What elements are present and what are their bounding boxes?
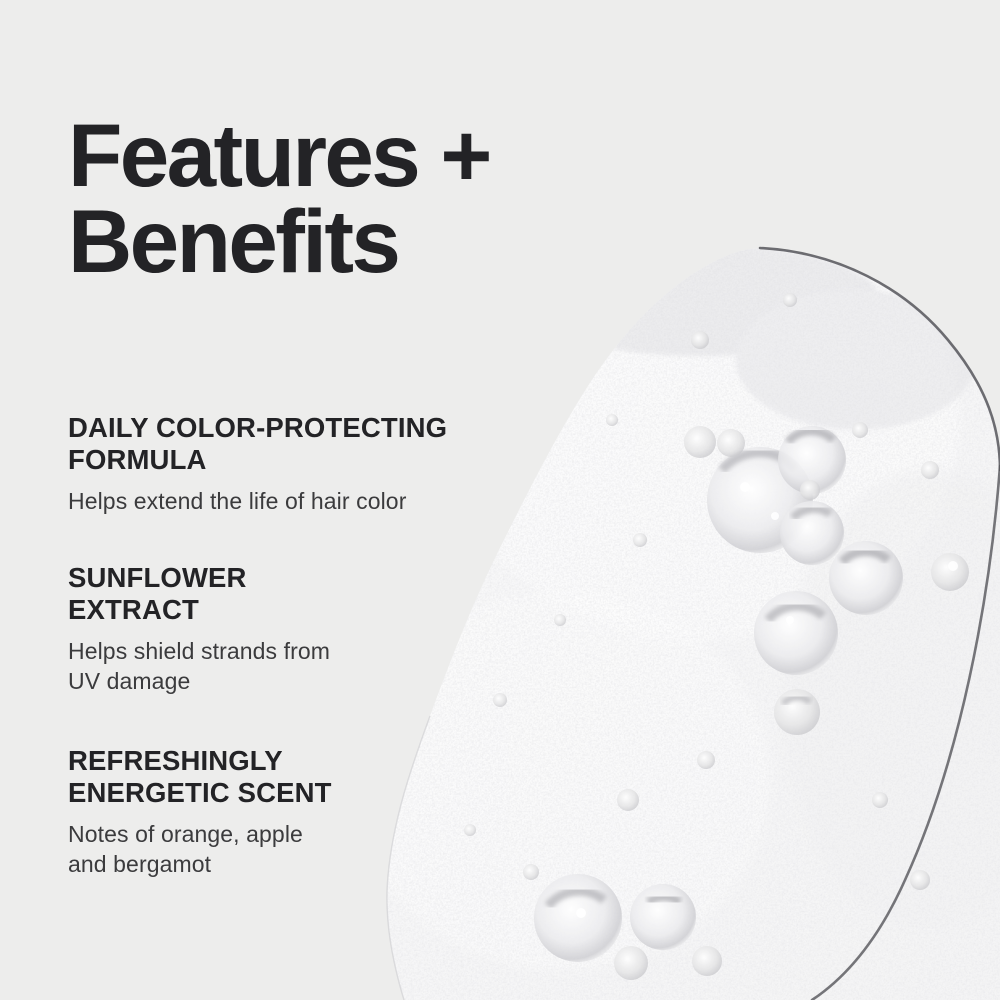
feature-block-sunflower-extract: SUNFLOWER EXTRACT Helps shield strands f… [68,562,538,697]
content-column: Features + Benefits DAILY COLOR-PROTECTI… [68,0,538,1000]
feature-title: DAILY COLOR-PROTECTING FORMULA [68,412,538,477]
feature-block-daily-color-protecting-formula: DAILY COLOR-PROTECTING FORMULA Helps ext… [68,412,538,516]
feature-description: Helps shield strands from UV damage [68,636,538,697]
feature-title: REFRESHINGLY ENERGETIC SCENT [68,745,538,810]
product-feature-card: Features + Benefits DAILY COLOR-PROTECTI… [0,0,1000,1000]
feature-description: Notes of orange, apple and bergamot [68,819,538,880]
page-title: Features + Benefits [68,112,568,285]
feature-description: Helps extend the life of hair color [68,486,538,517]
feature-block-refreshingly-energetic-scent: REFRESHINGLY ENERGETIC SCENT Notes of or… [68,745,538,880]
feature-title: SUNFLOWER EXTRACT [68,562,538,627]
bubble-cluster-large [464,293,969,980]
